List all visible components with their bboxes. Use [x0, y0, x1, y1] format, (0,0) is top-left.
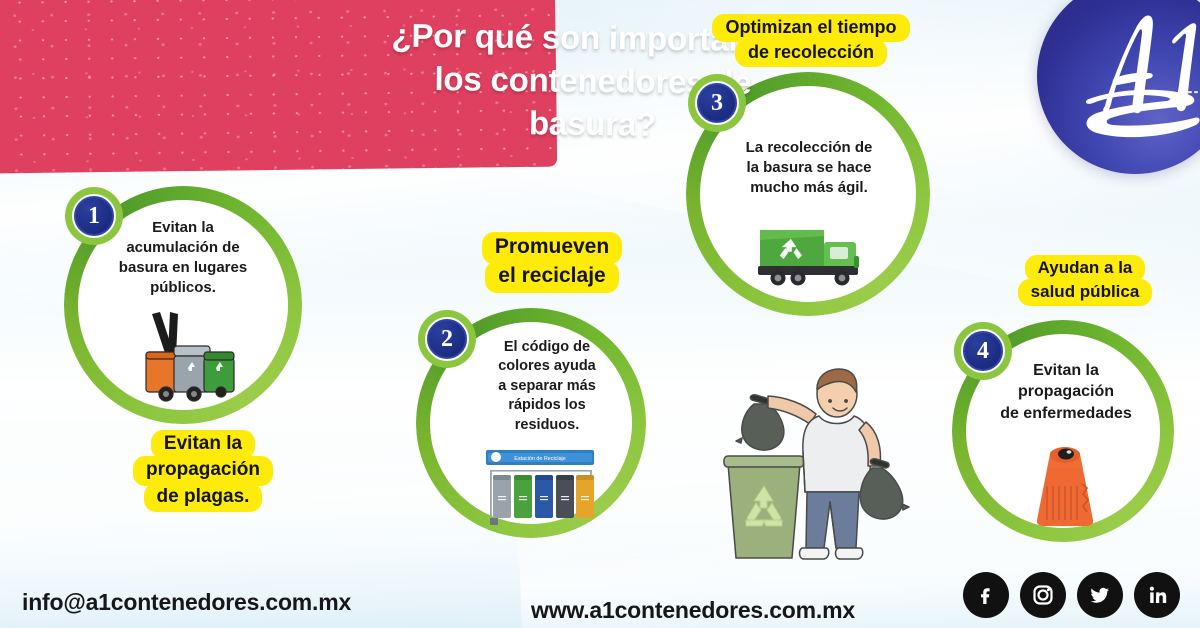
callout-line: Promueven: [482, 232, 622, 264]
callout-label-4: Ayudan a la salud pública: [1010, 255, 1160, 306]
callout-label-3: Optimizan el tiempo de recolección: [706, 14, 916, 67]
linkedin-icon[interactable]: [1134, 572, 1180, 618]
callout-line: Optimizan el tiempo: [712, 14, 909, 42]
facebook-icon[interactable]: [963, 572, 1009, 618]
info-line: rápidos los: [466, 396, 628, 415]
info-line: mucho más ágil.: [714, 178, 904, 198]
info-line: basura en lugares: [78, 258, 288, 278]
orange-waste-container-icon: [1025, 440, 1105, 528]
step-badge-3: 3: [688, 74, 746, 132]
two-wheeled-bins-with-brooms-icon: [126, 306, 242, 402]
step-number: 4: [961, 329, 1005, 373]
info-circle-1[interactable]: 1 Evitan la acumulación de basura en lug…: [64, 186, 302, 424]
twitter-icon[interactable]: [1077, 572, 1123, 618]
callout-line: Evitan la: [151, 430, 255, 459]
callout-line: Ayudan a la: [1025, 255, 1146, 282]
info-line: a separar más: [466, 377, 628, 396]
info-text-3: La recolección de la basura se hace much…: [714, 138, 904, 198]
info-line: El código de: [466, 338, 628, 357]
contact-email[interactable]: info@a1contenedores.com.mx: [22, 589, 351, 616]
callout-label-2: Promueven el reciclaje: [472, 232, 632, 293]
step-badge-2: 2: [418, 310, 476, 368]
info-line: residuos.: [466, 416, 628, 435]
callout-line: salud pública: [1018, 279, 1153, 306]
info-line: La recolección de: [714, 138, 904, 158]
svg-text:Estación de Reciclaje: Estación de Reciclaje: [514, 456, 566, 462]
step-number: 1: [72, 194, 116, 238]
step-number: 3: [695, 81, 739, 125]
info-circle-2[interactable]: 2 El código de colores ayuda a separar m…: [416, 308, 646, 538]
info-line: colores ayuda: [466, 357, 628, 376]
website-url[interactable]: www.a1contenedores.com.mx: [531, 597, 855, 624]
info-line: acumulación de: [78, 238, 288, 258]
man-throwing-trash-bag-into-recycling-bin-illustration: [706, 352, 918, 570]
step-number: 2: [425, 317, 469, 361]
info-line: la basura se hace: [714, 158, 904, 178]
step-badge-4: 4: [954, 322, 1012, 380]
callout-line: propagación: [133, 456, 273, 485]
infographic-canvas: ¿Por qué son importantes los contenedore…: [0, 0, 1200, 628]
info-line: propagación: [958, 381, 1174, 402]
callout-line: el reciclaje: [485, 261, 618, 293]
social-links: [963, 572, 1180, 618]
info-line: públicos.: [78, 278, 288, 298]
callout-label-1: Evitan la propagación de plagas.: [120, 430, 286, 512]
instagram-icon[interactable]: [1020, 572, 1066, 618]
info-line: de enfermedades: [958, 403, 1174, 424]
info-circle-4[interactable]: 4 Evitan la propagación de enfermedades: [952, 320, 1174, 542]
page-title: ¿Por qué son importantes los contenedore…: [19, 9, 1166, 153]
callout-line: de plagas.: [144, 483, 263, 512]
recycling-station-five-bins-icon: Estación de Reciclaje: [484, 448, 598, 526]
green-garbage-truck-icon: [754, 220, 870, 288]
step-badge-1: 1: [65, 187, 123, 245]
info-text-2: El código de colores ayuda a separar más…: [466, 338, 628, 435]
callout-line: de recolección: [735, 39, 887, 67]
